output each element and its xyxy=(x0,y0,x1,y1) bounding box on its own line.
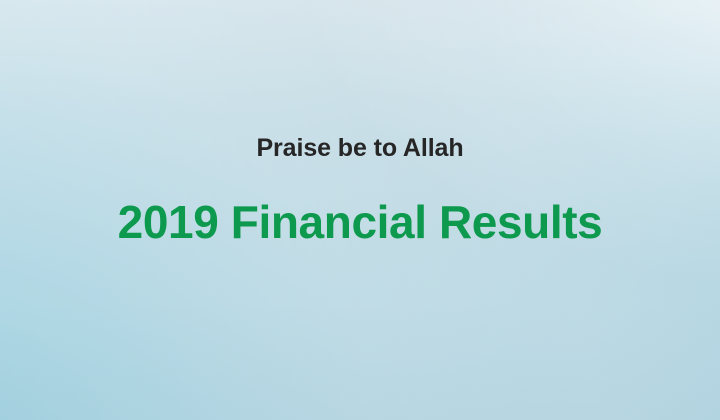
slide-text-block: Praise be to Allah 2019 Financial Result… xyxy=(0,0,720,420)
slide-subtitle: Praise be to Allah xyxy=(0,133,720,163)
title-slide: Praise be to Allah 2019 Financial Result… xyxy=(0,0,720,420)
slide-title: 2019 Financial Results xyxy=(0,194,720,250)
